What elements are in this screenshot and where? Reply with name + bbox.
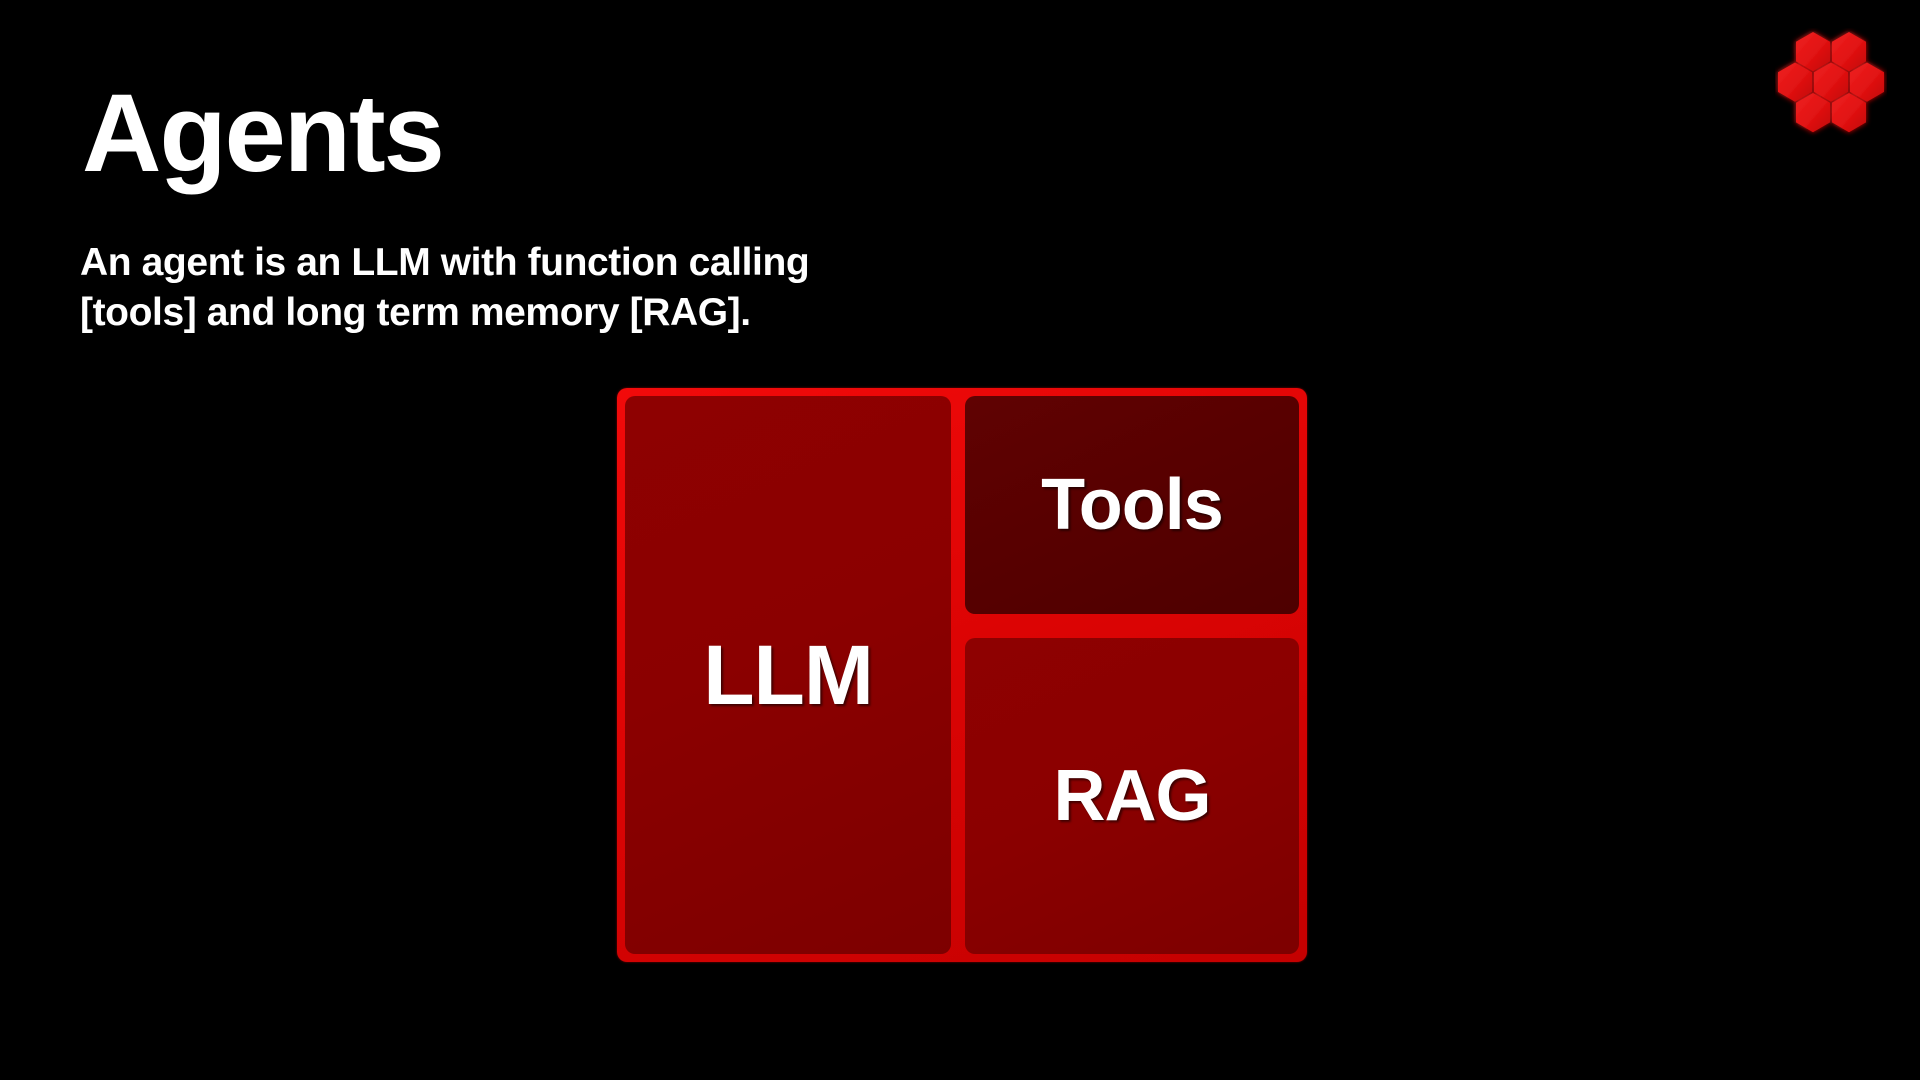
hexagon-cluster-icon: [1775, 28, 1887, 140]
page-title: Agents: [82, 78, 443, 190]
slide-canvas: Agents An agent is an LLM with function …: [0, 0, 1920, 1080]
diagram-panel-rag[interactable]: RAG: [965, 638, 1299, 954]
hexagon-cluster-logo: [1775, 28, 1887, 140]
diagram-right-column: Tools RAG: [965, 396, 1299, 954]
slide-subtitle: An agent is an LLM with function calling…: [80, 238, 809, 338]
diagram-panel-llm[interactable]: LLM: [625, 396, 951, 954]
diagram-panel-llm-label: LLM: [703, 627, 873, 724]
diagram-left-column: LLM: [625, 396, 951, 954]
agent-architecture-diagram: LLM Tools RAG: [617, 388, 1307, 962]
diagram-panel-tools-label: Tools: [1041, 464, 1223, 546]
diagram-panel-tools[interactable]: Tools: [965, 396, 1299, 614]
diagram-panel-rag-label: RAG: [1054, 755, 1211, 837]
